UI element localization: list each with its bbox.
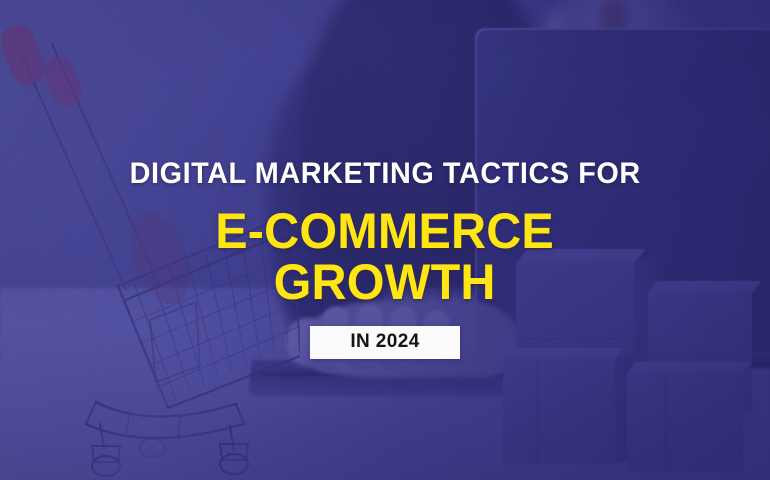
banner-headline: E-COMMERCE GROWTH [216,206,555,308]
banner-eyebrow-text: DIGITAL MARKETING TACTICS FOR [129,159,640,189]
banner-content: DIGITAL MARKETING TACTICS FOR E-COMMERCE… [0,0,770,480]
headline-line-1: E-COMMERCE [216,203,555,259]
headline-line-2: GROWTH [216,257,555,308]
hero-banner: DIGITAL MARKETING TACTICS FOR E-COMMERCE… [0,0,770,480]
year-badge: IN 2024 [310,326,459,360]
